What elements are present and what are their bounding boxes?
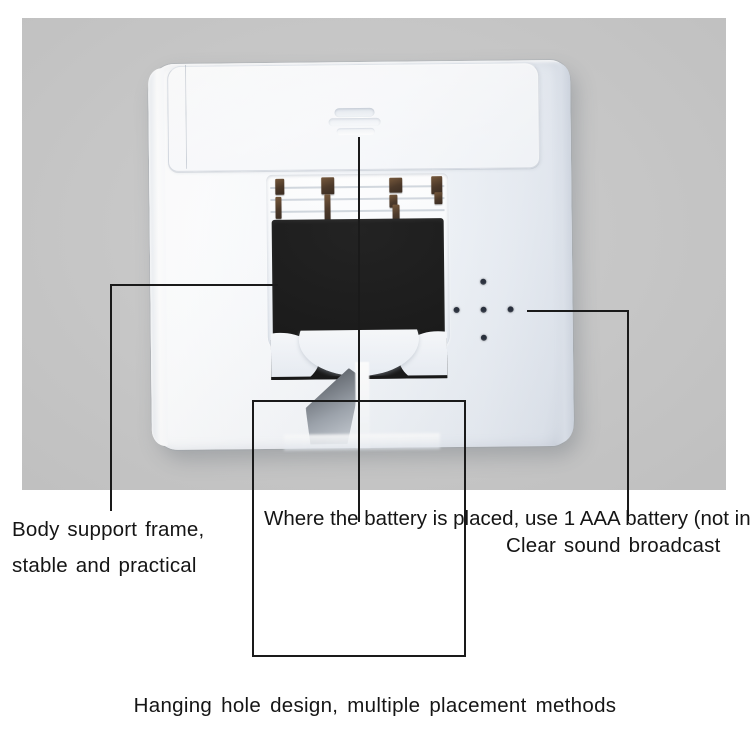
hanging-hole-top <box>334 108 374 117</box>
speaker-hole-center <box>481 307 487 313</box>
flap-seam <box>167 65 187 169</box>
callout-mid-line-2: is placed, use 1 <box>433 507 575 530</box>
callout-mid-line-1: Where the battery <box>264 507 427 530</box>
device-right-edge <box>550 62 574 444</box>
speaker-hole-bottom <box>481 335 487 341</box>
callout-right-line-1: Clear sound broadcast <box>506 534 720 557</box>
leader-line-center-vertical <box>358 137 360 522</box>
battery-contact-clip <box>275 197 281 219</box>
infographic-stage: Body support frame, stable and practical… <box>0 0 750 750</box>
callout-mid-line-4: (not included) <box>694 507 750 530</box>
speaker-hole-top <box>480 279 486 285</box>
speaker-hole-left <box>454 307 460 313</box>
callout-body-support-frame: Body support frame, stable and practical <box>12 512 204 584</box>
leader-line-right-vertical <box>627 310 629 521</box>
callout-box-bottom-edge <box>252 655 466 657</box>
footer-caption: Hanging hole design, multiple placement … <box>0 694 750 718</box>
battery-contact-clip <box>434 192 442 204</box>
leader-line-right-horizontal <box>527 310 628 312</box>
callout-clear-sound-broadcast: Clear sound broadcast <box>506 528 720 564</box>
speaker-hole-right <box>508 306 514 312</box>
battery-contact-clip <box>389 178 402 193</box>
leader-line-stand-bracket <box>252 400 466 402</box>
callout-battery-placement: Where the battery is placed, use 1 AAA b… <box>264 500 464 537</box>
hanging-hole <box>326 108 382 139</box>
callout-left-line-1: Body support frame, <box>12 518 204 541</box>
battery-contact-clip <box>321 177 334 194</box>
product-device-image <box>148 60 574 450</box>
battery-contact-clip <box>324 194 330 220</box>
battery-contact-clip <box>275 179 284 195</box>
leader-line-left-horizontal <box>110 284 278 286</box>
leader-line-left-vertical <box>110 284 112 511</box>
hanging-hole-bottom <box>337 128 375 135</box>
product-photo-panel <box>22 18 726 490</box>
stand-base-shadow <box>284 433 440 451</box>
callout-mid-line-3: AAA battery <box>580 507 688 530</box>
callout-left-line-2: stable and practical <box>12 548 204 584</box>
hanging-hole-mid <box>329 118 381 127</box>
callout-box-left-edge <box>252 400 254 656</box>
